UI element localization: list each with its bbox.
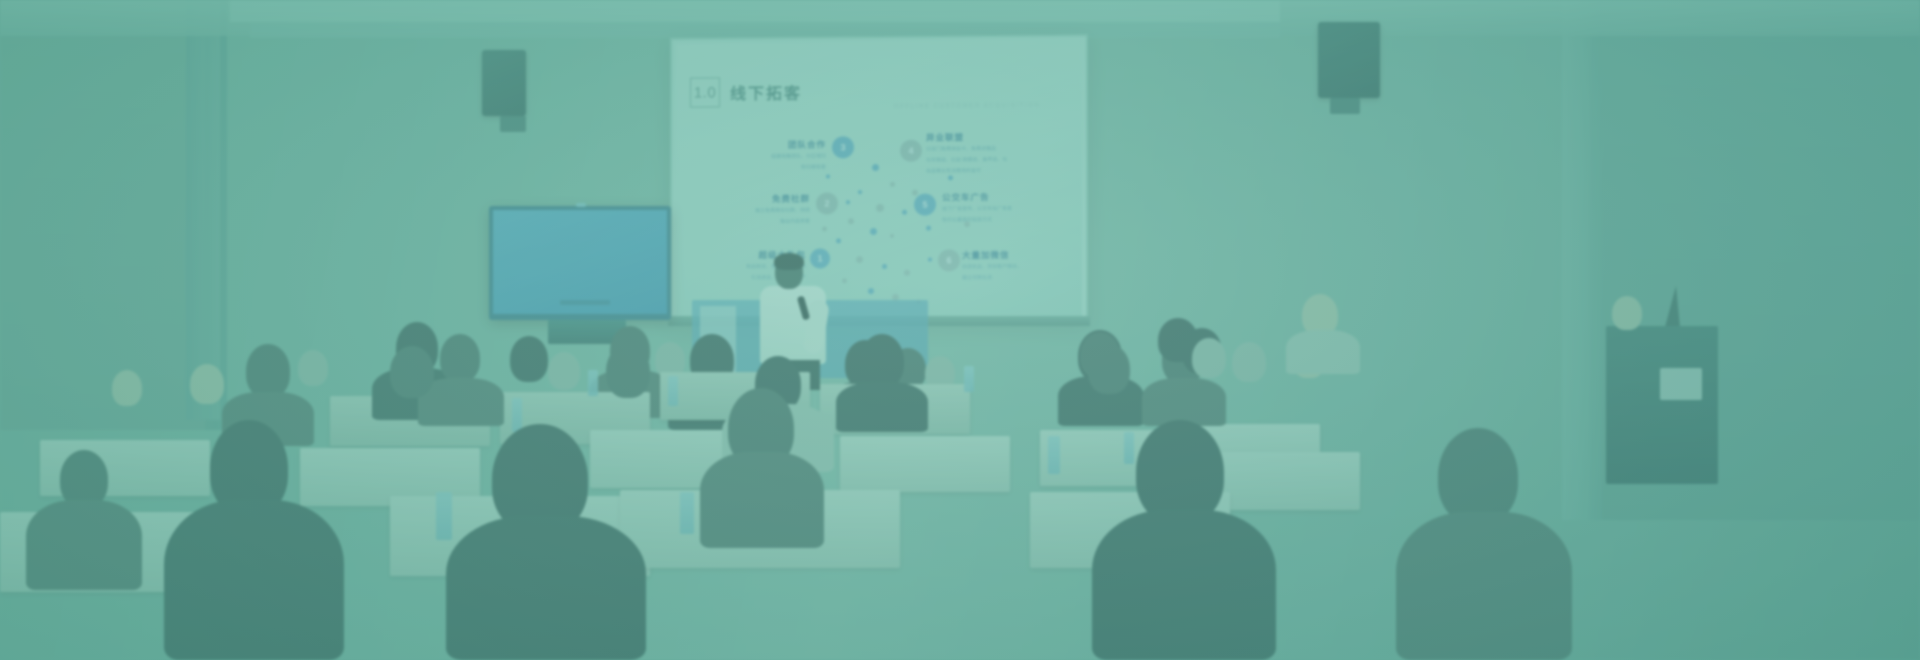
audience-head [1192, 338, 1226, 378]
desk [840, 436, 1010, 492]
diagram-label-3: 团队合作 组建地推团队，分区域扫 街扫楼拓客 [702, 138, 826, 173]
decorative-dot [902, 210, 907, 215]
decorative-dot [842, 278, 847, 283]
diagram-bubble-6: 6 [938, 249, 960, 271]
side-cabinet [1606, 326, 1718, 484]
decorative-dot [948, 175, 953, 180]
audience-head-foreground [1438, 428, 1518, 524]
diagram-bubble-4: 4 [900, 140, 922, 162]
audience-head [112, 370, 142, 406]
water-bottle [512, 398, 522, 432]
slide-number-badge: 1.0 [690, 77, 720, 107]
right-pillar [1562, 0, 1602, 520]
water-bottle [588, 370, 598, 396]
cabinet-item [1660, 368, 1702, 400]
bubble-diagram: 团队合作 组建地推团队，分区域扫 街扫楼拓客 免费社群 建立免费微信社群，持续 … [676, 128, 1082, 320]
audience-head [190, 364, 224, 404]
diagram-label-5: 公交车广告 线下广告宣传，公交车站广告是 性价比最高的投放方式 [942, 190, 1082, 225]
tv-brand-logo [560, 300, 610, 305]
audience-shoulders-foreground [164, 500, 344, 660]
ceiling-soffit [250, 22, 1280, 38]
diagram-label-6: 大量加微信 创造机会，添加客户微信， 建立可转化池 [962, 248, 1082, 283]
audience-head [440, 334, 480, 382]
ceiling-light-strip [230, 0, 1280, 22]
decorative-dot [846, 200, 850, 204]
left-speaker-bracket [500, 116, 526, 132]
water-bottle [1124, 432, 1134, 464]
classroom-photo: 1.0 线下拓客 OFFLINE CUSTOMER ACQUISITION 团队… [0, 0, 1920, 660]
right-speaker-bracket [1330, 98, 1360, 114]
decorative-dot [890, 234, 894, 238]
decorative-dot [872, 164, 879, 171]
diagram-bubble-2: 2 [816, 192, 838, 214]
diagram-label-4: 异业联盟 分店门免费体验卡、免费送赠品 与车销店、比如 按摩店、美甲店、化 妆品… [926, 130, 1082, 176]
audience-shoulders [1286, 330, 1360, 374]
audience-shoulders [26, 500, 142, 590]
diagram-bubble-1: 1 [810, 248, 830, 268]
audience-head-foreground [1136, 420, 1224, 524]
audience-head [1232, 342, 1266, 382]
diagram-label-2: 免费社群 建立免费微信社群，持续 输出内容养客 [686, 193, 810, 228]
decorative-dot [858, 190, 862, 194]
water-bottle [668, 376, 678, 406]
decorative-dot [826, 174, 830, 178]
decorative-dot [856, 256, 863, 263]
decorative-dot [964, 221, 970, 227]
left-pillar [186, 0, 220, 420]
decorative-dot [904, 270, 910, 276]
audience-shoulders-foreground [1396, 512, 1572, 660]
decorative-dot [882, 264, 887, 269]
slide-subtitle: OFFLINE CUSTOMER ACQUISITION [894, 103, 1040, 110]
projection-screen: 1.0 线下拓客 OFFLINE CUSTOMER ACQUISITION 团队… [670, 34, 1088, 326]
decorative-dot [822, 226, 827, 231]
hero-banner: 1.0 线下拓客 OFFLINE CUSTOMER ACQUISITION 团队… [0, 0, 1920, 660]
diagram-bubble-3: 3 [832, 136, 854, 158]
tv-camera [576, 203, 586, 207]
tv-display-screen [493, 210, 667, 314]
audience-shoulders-foreground [446, 516, 646, 660]
audience-head [1088, 344, 1130, 394]
decorative-dot [876, 204, 884, 212]
audience-shoulders [836, 382, 928, 432]
slide-surface: 1.0 线下拓客 OFFLINE CUSTOMER ACQUISITION 团队… [676, 40, 1082, 320]
audience-head [1612, 296, 1642, 330]
water-bottle [680, 492, 694, 534]
diagram-bubble-5: 5 [914, 194, 936, 216]
audience-shoulders-foreground [700, 452, 824, 548]
audience-head [510, 336, 548, 382]
water-bottle [964, 366, 974, 392]
presenter-hair [774, 253, 804, 270]
decorative-dot [890, 182, 895, 187]
water-bottle [436, 492, 452, 540]
audience-head [246, 344, 290, 398]
slide-title: 线下拓客 [730, 80, 802, 105]
audience-shoulders-foreground [1092, 510, 1276, 660]
audience-head [390, 346, 434, 398]
right-wall-speaker [1318, 22, 1380, 98]
audience-head [298, 350, 328, 386]
slide-header: 1.0 线下拓客 [690, 77, 802, 108]
decorative-dot [848, 218, 854, 224]
audience-head [860, 334, 904, 388]
left-wall-speaker [482, 50, 526, 116]
decorative-dot [912, 190, 918, 196]
decorative-dot [928, 258, 932, 262]
decorative-dot [926, 226, 931, 231]
water-bottle [1048, 436, 1060, 474]
decorative-dot [870, 228, 877, 235]
audience-head [606, 344, 650, 398]
decorative-dot [836, 238, 841, 243]
decorative-dot [868, 288, 874, 294]
audience-head [548, 352, 580, 390]
audience-shoulders [1142, 378, 1226, 426]
